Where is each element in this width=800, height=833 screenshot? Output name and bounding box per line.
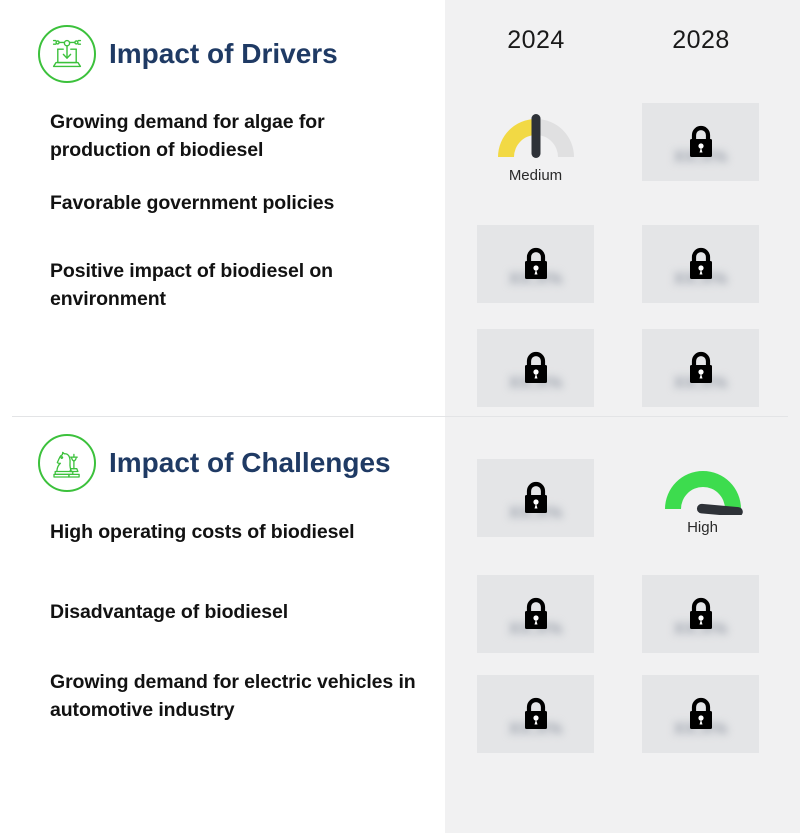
section-title-drivers: Impact of Drivers: [109, 40, 338, 68]
section-header-challenges: Impact of Challenges: [38, 434, 391, 492]
locked-cell-drivers-2028-r3[interactable]: XX.X%: [642, 329, 759, 407]
column-header-2028: 2028: [641, 26, 761, 55]
gauge-medium-icon: [493, 105, 579, 163]
driver-item-3: Positive impact of biodiesel on environm…: [50, 257, 420, 313]
section-divider: [12, 416, 788, 417]
lock-icon: [684, 594, 718, 634]
section-header-drivers: Impact of Drivers: [38, 25, 338, 83]
lock-icon: [519, 478, 553, 518]
lock-icon: [684, 244, 718, 284]
lock-icon: [684, 348, 718, 388]
lock-icon: [519, 348, 553, 388]
locked-cell-challenges-2028-r3[interactable]: XX.X%: [642, 675, 759, 753]
gauge-cell-challenges-2028[interactable]: High: [644, 455, 761, 551]
gauge-label-medium: Medium: [477, 167, 594, 184]
gauge-label-high: High: [644, 519, 761, 536]
challenge-item-2: Disadvantage of biodiesel: [50, 598, 420, 626]
locked-cell-challenges-2024-r1[interactable]: XX.X%: [477, 459, 594, 537]
locked-cell-challenges-2024-r3[interactable]: XX.X%: [477, 675, 594, 753]
laptop-download-icon: [38, 25, 96, 83]
locked-cell-drivers-2024-r3[interactable]: XX.X%: [477, 329, 594, 407]
driver-item-2: Favorable government policies: [50, 189, 420, 217]
lock-icon: [684, 694, 718, 734]
locked-cell-drivers-2024-r2[interactable]: XX.X%: [477, 225, 594, 303]
locked-cell-drivers-2028-r1[interactable]: XX.X%: [642, 103, 759, 181]
lock-icon: [684, 122, 718, 162]
column-header-2024: 2024: [476, 26, 596, 55]
gauge-high-icon: [657, 457, 749, 515]
gauge-cell-drivers-2024[interactable]: Medium: [477, 103, 594, 199]
lock-icon: [519, 594, 553, 634]
locked-cell-challenges-2028-r2[interactable]: XX.X%: [642, 575, 759, 653]
chess-pieces-icon: [38, 434, 96, 492]
challenge-item-1: High operating costs of biodiesel: [50, 518, 420, 546]
locked-cell-drivers-2028-r2[interactable]: XX.X%: [642, 225, 759, 303]
lock-icon: [519, 244, 553, 284]
impact-matrix-page: 2024 2028 Impact of Drivers Growing dema…: [0, 0, 800, 833]
lock-icon: [519, 694, 553, 734]
challenge-item-3: Growing demand for electric vehicles in …: [50, 668, 420, 724]
driver-item-1: Growing demand for algae for production …: [50, 108, 420, 164]
section-title-challenges: Impact of Challenges: [109, 449, 391, 477]
locked-cell-challenges-2024-r2[interactable]: XX.X%: [477, 575, 594, 653]
